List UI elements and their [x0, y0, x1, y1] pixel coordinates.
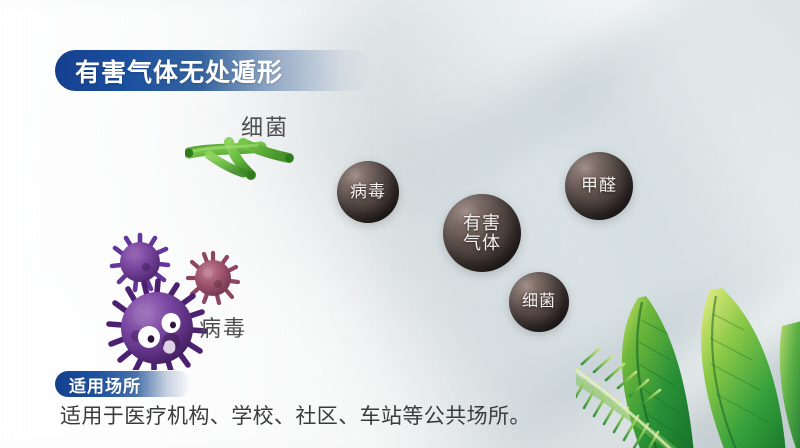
virus-label: 病毒: [199, 311, 247, 343]
sphere-formaldehyde-label: 甲醛: [581, 176, 617, 195]
poster-canvas: 有害气体无处遁形: [0, 0, 800, 448]
virus-illustration: [96, 232, 246, 370]
usage-banner-label: 适用场所: [69, 372, 141, 397]
virus-pupil-left: [148, 335, 155, 343]
usage-banner: 适用场所: [55, 371, 191, 397]
title-banner: 有害气体无处遁形: [55, 50, 373, 91]
bacteria-rod-group: [185, 142, 293, 179]
sphere-virus: 病毒: [337, 161, 399, 223]
sphere-bacteria-label: 细菌: [522, 293, 556, 311]
leaves-illustration: [576, 268, 800, 448]
sphere-harmful-gas-line1: 有害: [463, 213, 501, 233]
banana-leaf-right: [701, 288, 786, 448]
virus-particle-large-character: [109, 281, 205, 370]
bacteria-illustration: [185, 136, 297, 182]
sphere-harmful-gas: 有害 气体: [443, 194, 521, 272]
usage-description: 适用于医疗机构、学校、社区、车站等公共场所。: [60, 400, 531, 430]
sphere-harmful-gas-text: 有害 气体: [463, 213, 501, 253]
sphere-harmful-gas-line2: 气体: [463, 233, 501, 253]
sphere-bacteria: 细菌: [509, 272, 569, 332]
bacteria-label: 细菌: [241, 110, 289, 142]
virus-pupil-right: [170, 322, 176, 329]
sphere-virus-label: 病毒: [350, 182, 386, 201]
title-banner-label: 有害气体无处遁形: [75, 53, 283, 89]
sphere-formaldehyde: 甲醛: [565, 152, 633, 220]
